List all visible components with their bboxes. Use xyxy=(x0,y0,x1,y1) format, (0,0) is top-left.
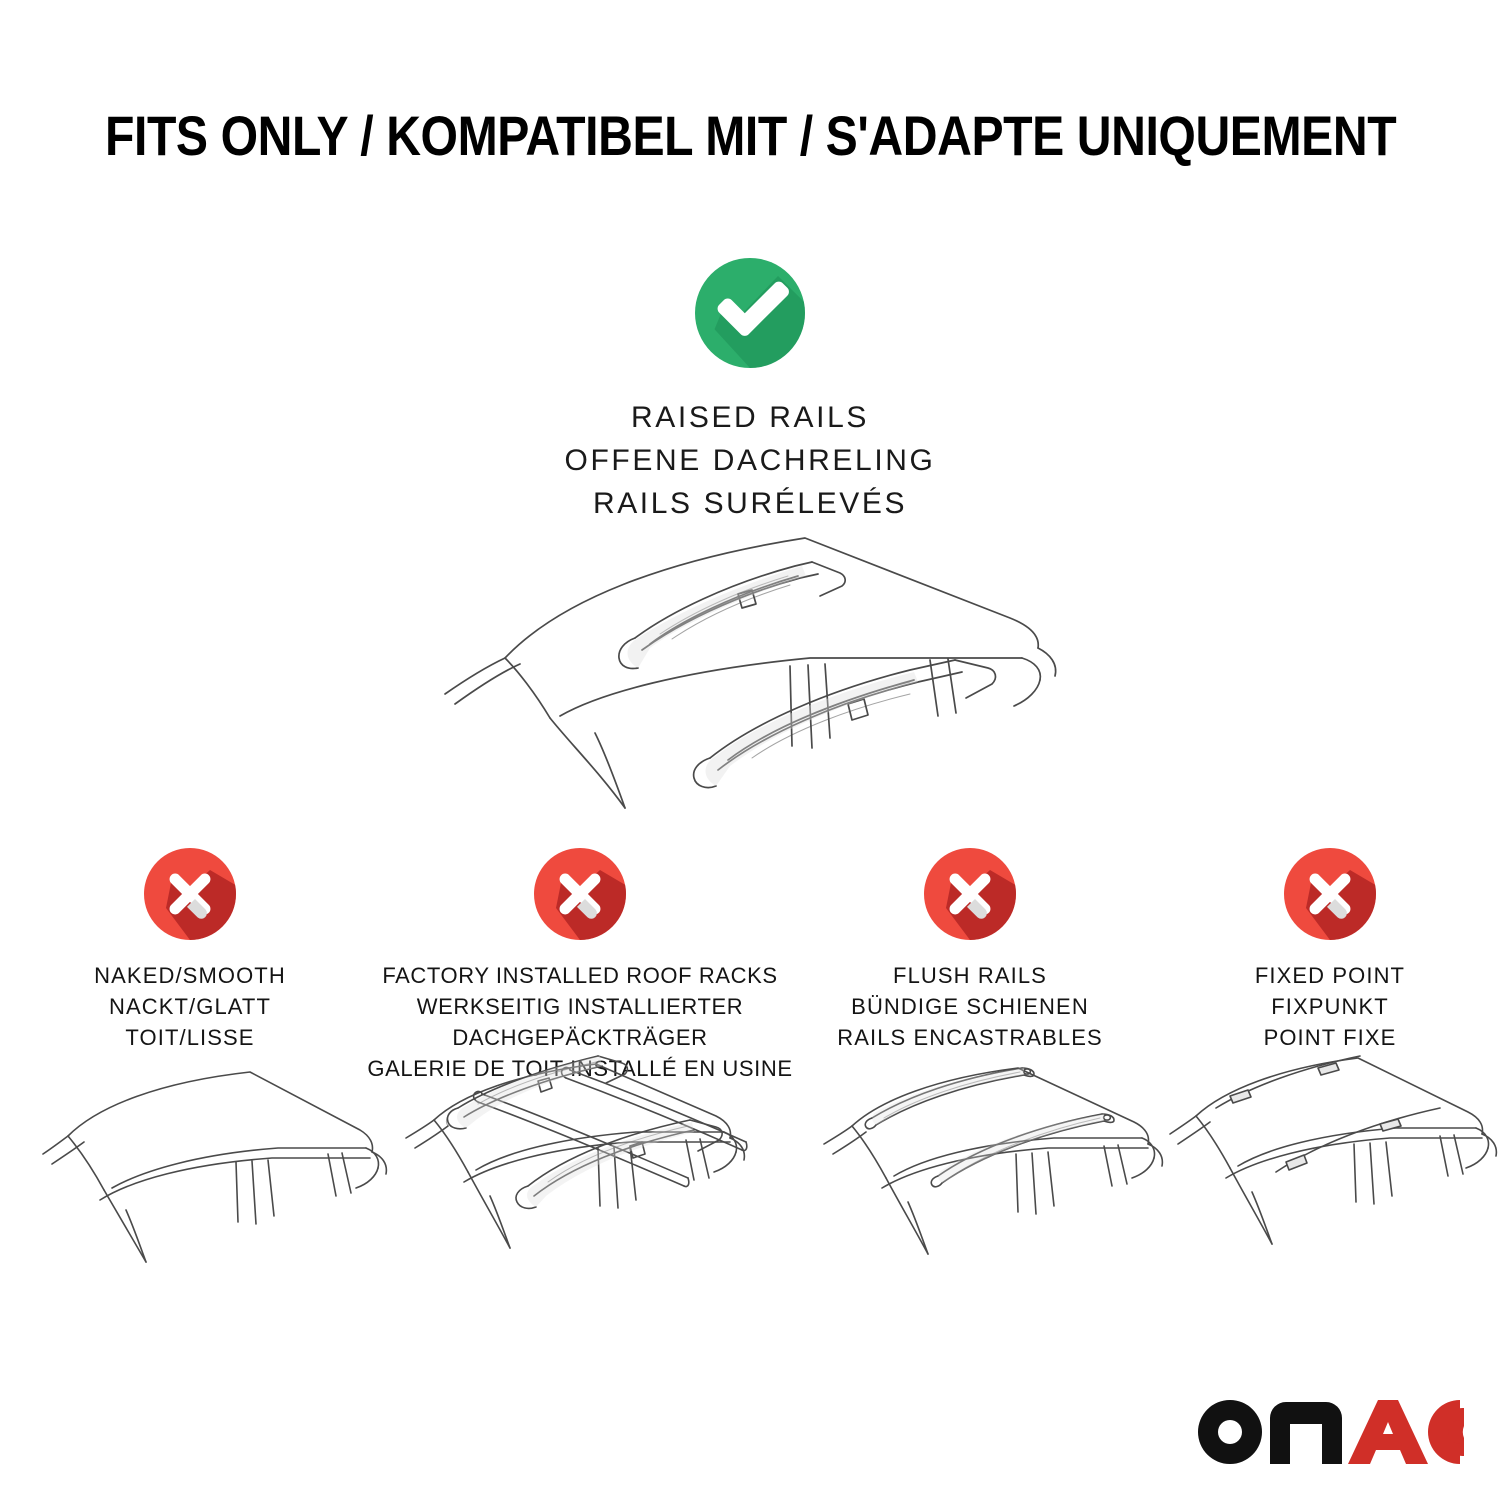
compatible-label-de: OFFENE DACHRELING xyxy=(565,439,936,482)
incompatible-column-fixed-point: FIXED POINT FIXPUNKT POINT FIXE xyxy=(1160,848,1500,1084)
cross-circle-icon xyxy=(144,848,236,940)
incompatible-labels: NAKED/SMOOTH NACKT/GLATT TOIT/LISSE xyxy=(94,960,286,1053)
logo-letter-m xyxy=(1270,1402,1342,1464)
label-de-2: DACHGEPÄCKTRÄGER xyxy=(367,1022,792,1053)
compatible-label-en: RAISED RAILS xyxy=(565,396,936,439)
logo-letter-a xyxy=(1348,1400,1428,1464)
label-de: NACKT/GLATT xyxy=(94,991,286,1022)
label-fr: TOIT/LISSE xyxy=(94,1022,286,1053)
logo-letter-o xyxy=(1198,1400,1262,1464)
cross-circle-icon xyxy=(534,848,626,940)
check-circle-icon xyxy=(695,258,805,368)
cross-circle-icon xyxy=(1284,848,1376,940)
compatible-section: RAISED RAILS OFFENE DACHRELING RAILS SUR… xyxy=(0,258,1500,525)
compatible-labels: RAISED RAILS OFFENE DACHRELING RAILS SUR… xyxy=(565,396,936,525)
label-en: FLUSH RAILS xyxy=(837,960,1103,991)
page-title: FITS ONLY / KOMPATIBEL MIT / S'ADAPTE UN… xyxy=(105,104,1395,168)
label-fr: RAILS ENCASTRABLES xyxy=(837,1022,1103,1053)
incompatible-column-flush-rails: FLUSH RAILS BÜNDIGE SCHIENEN RAILS ENCAS… xyxy=(780,848,1160,1084)
label-en: FACTORY INSTALLED ROOF RACKS xyxy=(367,960,792,991)
label-en: NAKED/SMOOTH xyxy=(94,960,286,991)
label-en: FIXED POINT xyxy=(1255,960,1405,991)
label-de: BÜNDIGE SCHIENEN xyxy=(837,991,1103,1022)
incompatible-section: NAKED/SMOOTH NACKT/GLATT TOIT/LISSE FACT… xyxy=(0,848,1500,1084)
omac-logo xyxy=(1192,1394,1464,1472)
car-roof-flush-rails-illustration xyxy=(818,1050,1208,1310)
incompatible-column-naked-smooth: NAKED/SMOOTH NACKT/GLATT TOIT/LISSE xyxy=(0,848,380,1084)
car-roof-factory-roof-racks-illustration xyxy=(398,1050,788,1310)
incompatible-labels: FLUSH RAILS BÜNDIGE SCHIENEN RAILS ENCAS… xyxy=(837,960,1103,1053)
car-roof-naked-smooth-illustration xyxy=(40,1050,400,1310)
label-de: FIXPUNKT xyxy=(1255,991,1405,1022)
label-fr: POINT FIXE xyxy=(1255,1022,1405,1053)
car-roof-raised-rails-illustration xyxy=(410,508,1110,818)
cross-circle-icon xyxy=(924,848,1016,940)
incompatible-column-factory-roof-racks: FACTORY INSTALLED ROOF RACKS WERKSEITIG … xyxy=(380,848,780,1084)
incompatible-illustrations-row xyxy=(0,1050,1500,1310)
label-de-1: WERKSEITIG INSTALLIERTER xyxy=(367,991,792,1022)
incompatible-labels: FIXED POINT FIXPUNKT POINT FIXE xyxy=(1255,960,1405,1053)
car-roof-fixed-point-illustration xyxy=(1168,1050,1498,1310)
